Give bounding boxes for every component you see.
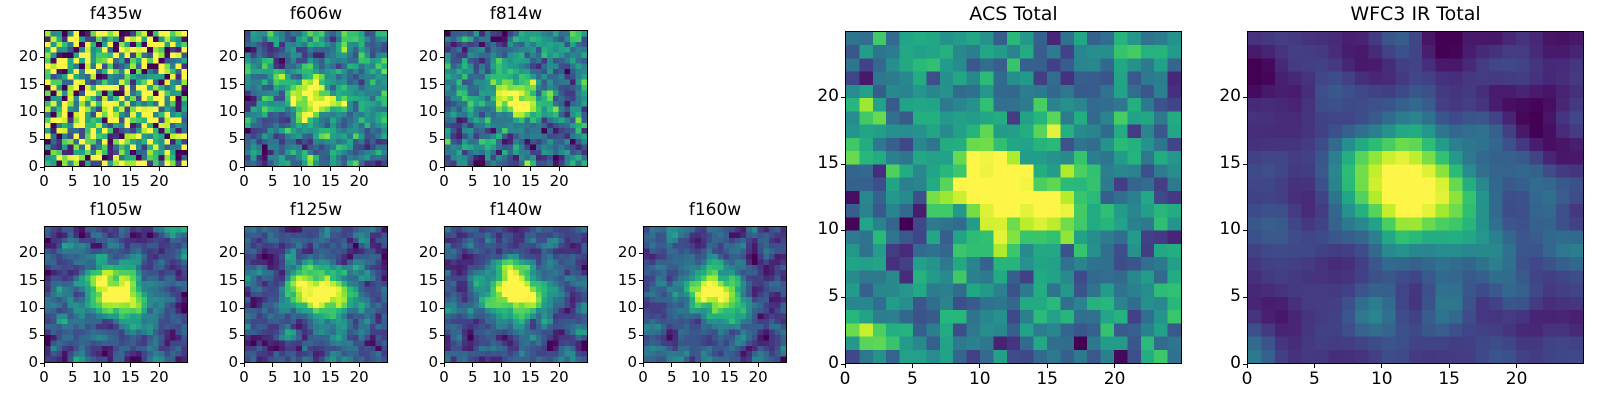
y-ticklabel-f814w-0: 0 xyxy=(368,159,438,174)
y-ticklabel-f814w-5: 5 xyxy=(368,131,438,146)
x-ticklabel-wfc3_ir_total-15: 15 xyxy=(1419,371,1479,388)
y-tick-f105w-15 xyxy=(40,280,44,281)
heatmap-image-f435w xyxy=(45,31,187,166)
x-tick-acs_total-0 xyxy=(845,364,846,368)
panel-f160w: f160w0510152005101520 xyxy=(0,0,1600,400)
y-ticklabel-f160w-5: 5 xyxy=(567,327,637,342)
y-ticklabel-f160w-15: 15 xyxy=(567,273,637,288)
x-ticklabel-f814w-15: 15 xyxy=(500,174,560,189)
x-tick-acs_total-20 xyxy=(1114,364,1115,368)
x-tick-acs_total-5 xyxy=(912,364,913,368)
x-ticklabel-f140w-20: 20 xyxy=(529,370,589,385)
x-tick-f435w-15 xyxy=(130,167,131,171)
y-ticklabel-f435w-15: 15 xyxy=(0,77,38,92)
x-ticklabel-f606w-20: 20 xyxy=(329,174,389,189)
axes-f140w xyxy=(444,226,588,363)
x-ticklabel-f606w-10: 10 xyxy=(272,174,332,189)
y-tick-f125w-15 xyxy=(240,280,244,281)
x-ticklabel-wfc3_ir_total-20: 20 xyxy=(1487,371,1547,388)
y-ticklabel-f105w-5: 5 xyxy=(0,327,38,342)
x-ticklabel-f814w-10: 10 xyxy=(472,174,532,189)
y-tick-f435w-0 xyxy=(40,167,44,168)
y-ticklabel-f606w-0: 0 xyxy=(168,159,238,174)
x-ticklabel-f125w-0: 0 xyxy=(214,370,274,385)
y-ticklabel-f140w-0: 0 xyxy=(368,355,438,370)
x-ticklabel-f435w-0: 0 xyxy=(14,174,74,189)
panel-f435w: f435w0510152005101520 xyxy=(0,0,1600,400)
y-tick-f606w-20 xyxy=(240,57,244,58)
x-tick-f435w-20 xyxy=(159,167,160,171)
x-ticklabel-f606w-15: 15 xyxy=(300,174,360,189)
x-ticklabel-f125w-15: 15 xyxy=(300,370,360,385)
x-tick-acs_total-15 xyxy=(1047,364,1048,368)
y-tick-f814w-15 xyxy=(440,84,444,85)
x-tick-f160w-5 xyxy=(671,363,672,367)
y-ticklabel-f105w-0: 0 xyxy=(0,355,38,370)
x-ticklabel-f435w-5: 5 xyxy=(43,174,103,189)
axes-f606w xyxy=(244,30,388,167)
x-ticklabel-f160w-10: 10 xyxy=(671,370,731,385)
x-ticklabel-f105w-0: 0 xyxy=(14,370,74,385)
x-tick-f814w-15 xyxy=(530,167,531,171)
x-tick-wfc3_ir_total-10 xyxy=(1381,364,1382,368)
y-tick-acs_total-15 xyxy=(841,164,845,165)
x-ticklabel-acs_total-5: 5 xyxy=(882,371,942,388)
y-tick-f140w-20 xyxy=(440,253,444,254)
y-ticklabel-f140w-20: 20 xyxy=(368,245,438,260)
y-ticklabel-f606w-15: 15 xyxy=(168,77,238,92)
panel-f105w: f105w0510152005101520 xyxy=(0,0,1600,400)
x-tick-f814w-20 xyxy=(559,167,560,171)
x-tick-f435w-10 xyxy=(101,167,102,171)
y-ticklabel-f160w-0: 0 xyxy=(567,355,637,370)
x-ticklabel-f606w-0: 0 xyxy=(214,174,274,189)
x-tick-f160w-15 xyxy=(729,363,730,367)
x-tick-f125w-5 xyxy=(272,363,273,367)
x-ticklabel-f140w-0: 0 xyxy=(414,370,474,385)
x-ticklabel-f160w-15: 15 xyxy=(699,370,759,385)
y-ticklabel-f105w-10: 10 xyxy=(0,300,38,315)
y-tick-wfc3_ir_total-20 xyxy=(1243,97,1247,98)
y-tick-f125w-10 xyxy=(240,308,244,309)
axes-acs_total xyxy=(845,31,1182,364)
x-tick-f435w-5 xyxy=(72,167,73,171)
heatmap-image-f105w xyxy=(45,227,187,362)
x-ticklabel-wfc3_ir_total-0: 0 xyxy=(1217,371,1277,388)
y-ticklabel-f435w-10: 10 xyxy=(0,104,38,119)
heatmap-image-f125w xyxy=(245,227,387,362)
heatmap-image-acs_total xyxy=(846,32,1181,363)
x-ticklabel-f125w-10: 10 xyxy=(272,370,332,385)
y-ticklabel-acs_total-20: 20 xyxy=(769,88,839,105)
x-tick-f125w-10 xyxy=(301,363,302,367)
x-ticklabel-acs_total-0: 0 xyxy=(815,371,875,388)
panel-title-f160w: f160w xyxy=(643,202,787,219)
y-ticklabel-f125w-0: 0 xyxy=(168,355,238,370)
x-tick-f606w-10 xyxy=(301,167,302,171)
panel-title-f435w: f435w xyxy=(44,6,188,23)
heatmap-image-wfc3_ir_total xyxy=(1248,32,1583,363)
y-ticklabel-f140w-10: 10 xyxy=(368,300,438,315)
y-ticklabel-f160w-20: 20 xyxy=(567,245,637,260)
x-ticklabel-f814w-20: 20 xyxy=(529,174,589,189)
panel-title-f606w: f606w xyxy=(244,6,388,23)
x-ticklabel-f125w-5: 5 xyxy=(243,370,303,385)
y-ticklabel-f606w-20: 20 xyxy=(168,49,238,64)
x-tick-f435w-0 xyxy=(44,167,45,171)
y-ticklabel-f105w-15: 15 xyxy=(0,273,38,288)
x-ticklabel-acs_total-10: 10 xyxy=(950,371,1010,388)
y-tick-f814w-5 xyxy=(440,139,444,140)
axes-f160w xyxy=(643,226,787,363)
figure-canvas: f435w0510152005101520f606w05101520051015… xyxy=(0,0,1600,400)
x-tick-f814w-10 xyxy=(501,167,502,171)
y-tick-acs_total-20 xyxy=(841,97,845,98)
y-ticklabel-f125w-15: 15 xyxy=(168,273,238,288)
heatmap-image-f606w xyxy=(245,31,387,166)
x-ticklabel-f140w-10: 10 xyxy=(472,370,532,385)
panel-f140w: f140w0510152005101520 xyxy=(0,0,1600,400)
panel-title-wfc3_ir_total: WFC3 IR Total xyxy=(1247,5,1584,24)
y-tick-acs_total-0 xyxy=(841,364,845,365)
x-ticklabel-f606w-5: 5 xyxy=(243,174,303,189)
x-ticklabel-f160w-0: 0 xyxy=(613,370,673,385)
y-tick-f160w-15 xyxy=(639,280,643,281)
y-tick-f435w-15 xyxy=(40,84,44,85)
y-tick-f606w-0 xyxy=(240,167,244,168)
y-tick-wfc3_ir_total-5 xyxy=(1243,297,1247,298)
x-tick-f125w-15 xyxy=(330,363,331,367)
y-tick-wfc3_ir_total-0 xyxy=(1243,364,1247,365)
panel-wfc3_ir_total: WFC3 IR Total0510152005101520 xyxy=(0,0,1600,400)
y-tick-f140w-0 xyxy=(440,363,444,364)
y-tick-wfc3_ir_total-15 xyxy=(1243,164,1247,165)
y-ticklabel-f160w-10: 10 xyxy=(567,300,637,315)
x-tick-f140w-15 xyxy=(530,363,531,367)
x-tick-wfc3_ir_total-20 xyxy=(1516,364,1517,368)
x-ticklabel-f105w-5: 5 xyxy=(43,370,103,385)
y-tick-f160w-20 xyxy=(639,253,643,254)
y-tick-f160w-0 xyxy=(639,363,643,364)
x-ticklabel-acs_total-15: 15 xyxy=(1017,371,1077,388)
x-tick-wfc3_ir_total-0 xyxy=(1247,364,1248,368)
panel-f606w: f606w0510152005101520 xyxy=(0,0,1600,400)
y-tick-f814w-20 xyxy=(440,57,444,58)
y-ticklabel-f125w-10: 10 xyxy=(168,300,238,315)
axes-f125w xyxy=(244,226,388,363)
panel-title-acs_total: ACS Total xyxy=(845,5,1182,24)
axes-wfc3_ir_total xyxy=(1247,31,1584,364)
y-tick-acs_total-10 xyxy=(841,230,845,231)
y-tick-f125w-0 xyxy=(240,363,244,364)
y-tick-f606w-15 xyxy=(240,84,244,85)
y-ticklabel-acs_total-5: 5 xyxy=(769,288,839,305)
axes-f435w xyxy=(44,30,188,167)
y-ticklabel-f814w-20: 20 xyxy=(368,49,438,64)
x-ticklabel-f814w-5: 5 xyxy=(443,174,503,189)
x-tick-f606w-0 xyxy=(244,167,245,171)
y-ticklabel-f435w-5: 5 xyxy=(0,131,38,146)
y-tick-f125w-20 xyxy=(240,253,244,254)
axes-f814w xyxy=(444,30,588,167)
y-ticklabel-f606w-10: 10 xyxy=(168,104,238,119)
y-ticklabel-f435w-20: 20 xyxy=(0,49,38,64)
x-tick-f140w-10 xyxy=(501,363,502,367)
y-tick-f105w-10 xyxy=(40,308,44,309)
x-tick-f606w-5 xyxy=(272,167,273,171)
y-tick-f606w-5 xyxy=(240,139,244,140)
panel-title-f125w: f125w xyxy=(244,202,388,219)
y-ticklabel-wfc3_ir_total-5: 5 xyxy=(1171,288,1241,305)
x-tick-f125w-20 xyxy=(359,363,360,367)
y-tick-f140w-5 xyxy=(440,335,444,336)
y-ticklabel-f105w-20: 20 xyxy=(0,245,38,260)
x-ticklabel-f105w-20: 20 xyxy=(129,370,189,385)
x-tick-f160w-10 xyxy=(700,363,701,367)
x-ticklabel-f160w-20: 20 xyxy=(728,370,788,385)
y-ticklabel-acs_total-0: 0 xyxy=(769,355,839,372)
x-tick-f105w-20 xyxy=(159,363,160,367)
y-ticklabel-f814w-10: 10 xyxy=(368,104,438,119)
x-tick-f105w-0 xyxy=(44,363,45,367)
x-tick-f606w-20 xyxy=(359,167,360,171)
y-tick-wfc3_ir_total-10 xyxy=(1243,230,1247,231)
x-ticklabel-f160w-5: 5 xyxy=(642,370,702,385)
y-tick-acs_total-5 xyxy=(841,297,845,298)
x-ticklabel-f105w-15: 15 xyxy=(100,370,160,385)
y-tick-f435w-5 xyxy=(40,139,44,140)
y-tick-f160w-10 xyxy=(639,308,643,309)
x-ticklabel-f814w-0: 0 xyxy=(414,174,474,189)
y-ticklabel-wfc3_ir_total-0: 0 xyxy=(1171,355,1241,372)
y-ticklabel-f814w-15: 15 xyxy=(368,77,438,92)
y-ticklabel-f140w-5: 5 xyxy=(368,327,438,342)
x-tick-wfc3_ir_total-5 xyxy=(1314,364,1315,368)
y-tick-f105w-5 xyxy=(40,335,44,336)
x-tick-f140w-20 xyxy=(559,363,560,367)
y-tick-f140w-10 xyxy=(440,308,444,309)
x-ticklabel-wfc3_ir_total-10: 10 xyxy=(1352,371,1412,388)
heatmap-image-f140w xyxy=(445,227,587,362)
x-tick-f160w-20 xyxy=(758,363,759,367)
y-tick-f160w-5 xyxy=(639,335,643,336)
y-ticklabel-wfc3_ir_total-20: 20 xyxy=(1171,88,1241,105)
panel-f125w: f125w0510152005101520 xyxy=(0,0,1600,400)
x-tick-f814w-5 xyxy=(472,167,473,171)
x-ticklabel-f125w-20: 20 xyxy=(329,370,389,385)
y-ticklabel-f606w-5: 5 xyxy=(168,131,238,146)
x-tick-f140w-0 xyxy=(444,363,445,367)
panel-title-f140w: f140w xyxy=(444,202,588,219)
x-tick-f160w-0 xyxy=(643,363,644,367)
x-ticklabel-acs_total-20: 20 xyxy=(1085,371,1145,388)
y-tick-f814w-0 xyxy=(440,167,444,168)
heatmap-image-f160w xyxy=(644,227,786,362)
x-ticklabel-f140w-5: 5 xyxy=(443,370,503,385)
x-ticklabel-wfc3_ir_total-5: 5 xyxy=(1284,371,1344,388)
y-tick-f606w-10 xyxy=(240,112,244,113)
x-tick-f814w-0 xyxy=(444,167,445,171)
x-tick-wfc3_ir_total-15 xyxy=(1449,364,1450,368)
x-ticklabel-f140w-15: 15 xyxy=(500,370,560,385)
panel-title-f814w: f814w xyxy=(444,6,588,23)
x-tick-f140w-5 xyxy=(472,363,473,367)
y-tick-f435w-20 xyxy=(40,57,44,58)
panel-acs_total: ACS Total0510152005101520 xyxy=(0,0,1600,400)
y-ticklabel-f140w-15: 15 xyxy=(368,273,438,288)
y-tick-f105w-20 xyxy=(40,253,44,254)
x-tick-f105w-5 xyxy=(72,363,73,367)
y-ticklabel-acs_total-15: 15 xyxy=(769,155,839,172)
y-ticklabel-wfc3_ir_total-10: 10 xyxy=(1171,221,1241,238)
x-tick-f125w-0 xyxy=(244,363,245,367)
y-tick-f435w-10 xyxy=(40,112,44,113)
x-ticklabel-f435w-15: 15 xyxy=(100,174,160,189)
y-ticklabel-f435w-0: 0 xyxy=(0,159,38,174)
y-tick-f814w-10 xyxy=(440,112,444,113)
x-tick-f606w-15 xyxy=(330,167,331,171)
x-ticklabel-f105w-10: 10 xyxy=(72,370,132,385)
x-tick-f105w-15 xyxy=(130,363,131,367)
heatmap-image-f814w xyxy=(445,31,587,166)
panel-f814w: f814w0510152005101520 xyxy=(0,0,1600,400)
y-tick-f125w-5 xyxy=(240,335,244,336)
x-tick-f105w-10 xyxy=(101,363,102,367)
y-tick-f140w-15 xyxy=(440,280,444,281)
y-ticklabel-f125w-5: 5 xyxy=(168,327,238,342)
y-ticklabel-acs_total-10: 10 xyxy=(769,221,839,238)
x-ticklabel-f435w-10: 10 xyxy=(72,174,132,189)
x-ticklabel-f435w-20: 20 xyxy=(129,174,189,189)
y-ticklabel-f125w-20: 20 xyxy=(168,245,238,260)
panel-title-f105w: f105w xyxy=(44,202,188,219)
y-ticklabel-wfc3_ir_total-15: 15 xyxy=(1171,155,1241,172)
x-tick-acs_total-10 xyxy=(979,364,980,368)
y-tick-f105w-0 xyxy=(40,363,44,364)
axes-f105w xyxy=(44,226,188,363)
